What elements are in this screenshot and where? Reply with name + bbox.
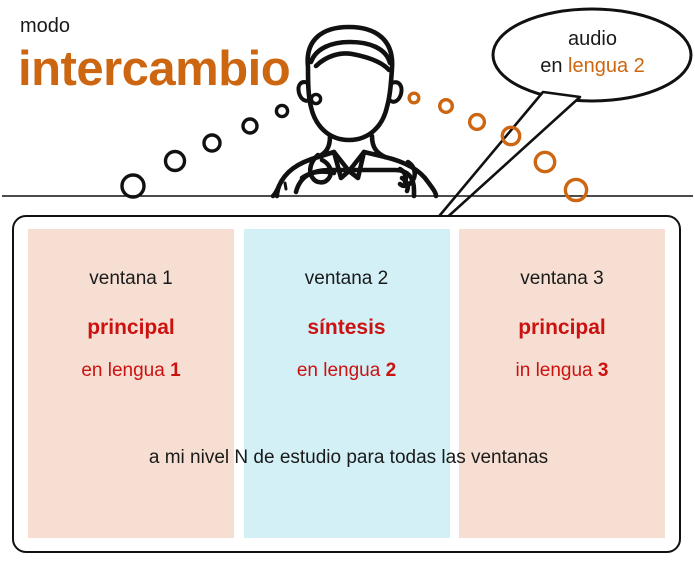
speech-bubble-shape	[493, 9, 691, 101]
window-3-title: ventana 3	[459, 267, 665, 291]
windows-columns-row: ventana 1 principal en lengua 1 ventana …	[14, 217, 679, 551]
person-illustration	[0, 0, 695, 230]
window-1-language-number: 1	[170, 360, 181, 381]
window-3-language: in lengua 3	[459, 359, 665, 383]
window-1-language-prefix: en lengua	[81, 360, 170, 381]
window-2-language: en lengua 2	[244, 359, 450, 383]
person-figure	[273, 27, 436, 196]
window-3-mode: principal	[459, 315, 665, 341]
window-1-mode: principal	[28, 315, 234, 341]
window-1-title: ventana 1	[28, 267, 234, 291]
window-3-language-prefix: in lengua	[516, 360, 598, 381]
window-column-1[interactable]: ventana 1 principal en lengua 1	[28, 229, 234, 538]
window-2-mode: síntesis	[244, 315, 450, 341]
window-2-language-number: 2	[386, 360, 397, 381]
header-area: modo intercambio	[0, 0, 695, 215]
window-1-language: en lengua 1	[28, 359, 234, 383]
windows-panel: ventana 1 principal en lengua 1 ventana …	[12, 215, 681, 553]
window-2-title: ventana 2	[244, 267, 450, 291]
window-2-language-prefix: en lengua	[297, 360, 386, 381]
black-bubbles	[122, 94, 321, 197]
window-column-3[interactable]: ventana 3 principal in lengua 3	[459, 229, 665, 538]
window-3-language-number: 3	[598, 360, 609, 381]
window-column-2[interactable]: ventana 2 síntesis en lengua 2	[244, 229, 450, 538]
